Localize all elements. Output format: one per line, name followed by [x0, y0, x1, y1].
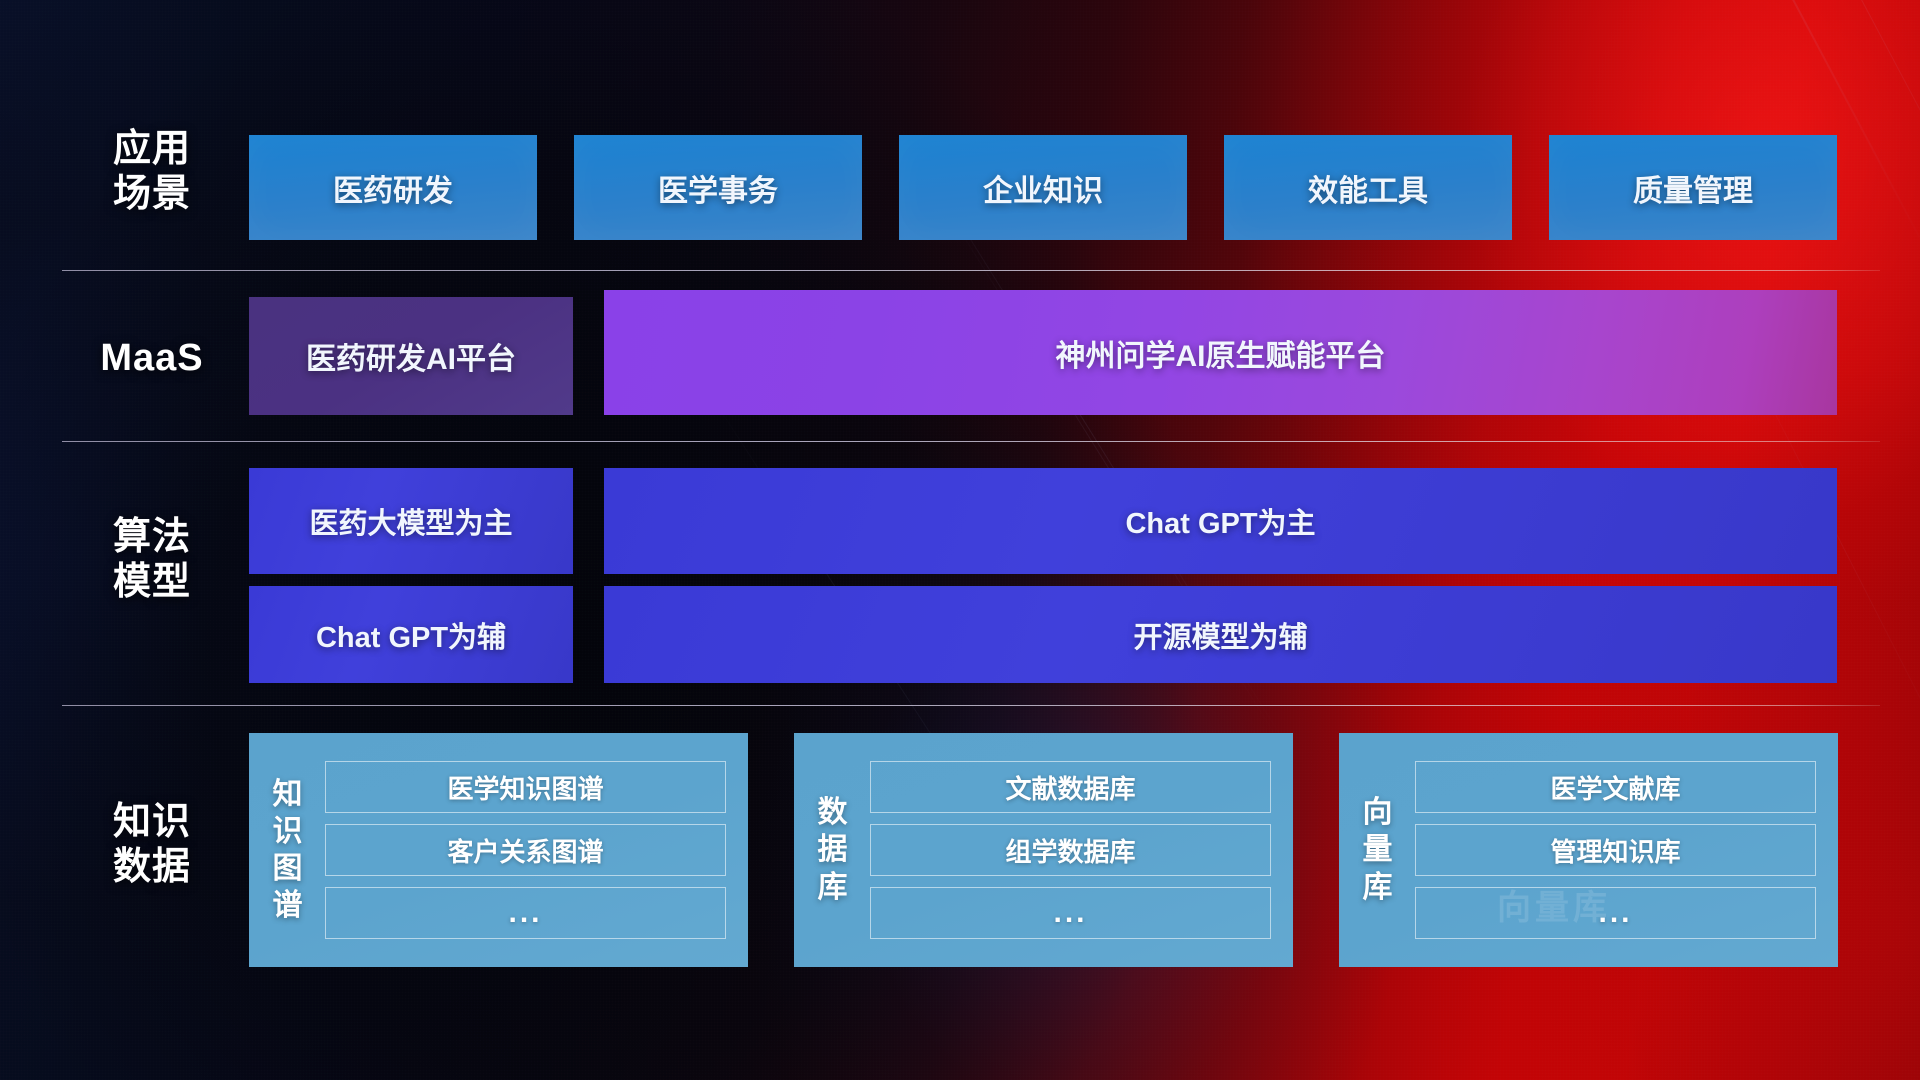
row-label-line-1: 知识	[62, 800, 242, 845]
knowledge-group-vertical-label: 向量库	[1357, 794, 1399, 906]
scenario-card-label: 质量管理	[1633, 166, 1753, 210]
scenario-card-3[interactable]: 企业知识	[899, 135, 1187, 240]
maas-platform-card-right[interactable]: 神州问学AI原生赋能平台	[604, 290, 1837, 415]
knowledge-item[interactable]: 客户关系图谱	[325, 824, 726, 876]
knowledge-group-vertical-label: 数据库	[812, 794, 854, 906]
algorithm-card-label: 医药大模型为主	[309, 500, 512, 542]
knowledge-item[interactable]: 组学数据库	[870, 824, 1271, 876]
knowledge-group-vertical-label: 知识图谱	[267, 776, 309, 925]
scenario-card-label: 医药研发	[333, 166, 453, 210]
scenario-card-label: 企业知识	[983, 166, 1103, 210]
maas-platform-label: 医药研发AI平台	[306, 334, 516, 378]
knowledge-group-vector-store[interactable]: 向量库 医学文献库 管理知识库 ...	[1339, 733, 1838, 967]
row-label-line-1: 算法	[62, 515, 242, 560]
algorithm-card-right-1[interactable]: Chat GPT为主	[604, 468, 1837, 574]
row-label-line-1: MaaS	[62, 336, 242, 381]
knowledge-item[interactable]: 文献数据库	[870, 761, 1271, 813]
row-label-maas: MaaS	[62, 336, 242, 381]
scenario-card-label: 医学事务	[658, 166, 778, 210]
row-label-knowledge-data: 知识 数据	[62, 800, 242, 890]
row-label-application-scenarios: 应用 场景	[62, 127, 242, 217]
divider-3	[62, 705, 1880, 706]
knowledge-item[interactable]: 医学知识图谱	[325, 761, 726, 813]
scenario-card-2[interactable]: 医学事务	[574, 135, 862, 240]
algorithm-card-right-2[interactable]: 开源模型为辅	[604, 586, 1837, 683]
knowledge-group-items: 医学知识图谱 客户关系图谱 ...	[325, 761, 726, 939]
knowledge-group-knowledge-graph[interactable]: 知识图谱 医学知识图谱 客户关系图谱 ...	[249, 733, 748, 967]
scenario-card-4[interactable]: 效能工具	[1224, 135, 1512, 240]
algorithm-card-label: Chat GPT为辅	[316, 614, 506, 656]
algorithm-card-label: 开源模型为辅	[1133, 614, 1307, 656]
knowledge-group-items: 医学文献库 管理知识库 ...	[1415, 761, 1816, 939]
knowledge-item[interactable]: 管理知识库	[1415, 824, 1816, 876]
divider-1	[62, 270, 1880, 271]
algorithm-card-left-2[interactable]: Chat GPT为辅	[249, 586, 573, 683]
maas-platform-card-left[interactable]: 医药研发AI平台	[249, 297, 573, 415]
row-label-algorithm-model: 算法 模型	[62, 515, 242, 605]
knowledge-item-more[interactable]: ...	[1415, 887, 1816, 939]
scenario-card-1[interactable]: 医药研发	[249, 135, 537, 240]
algorithm-card-left-1[interactable]: 医药大模型为主	[249, 468, 573, 574]
scenario-card-label: 效能工具	[1308, 166, 1428, 210]
row-label-line-2: 数据	[62, 845, 242, 890]
knowledge-group-items: 文献数据库 组学数据库 ...	[870, 761, 1271, 939]
knowledge-item-more[interactable]: ...	[325, 887, 726, 939]
knowledge-item-more[interactable]: ...	[870, 887, 1271, 939]
slide-canvas: 应用 场景 医药研发 医学事务 企业知识 效能工具 质量管理 MaaS 医药研发…	[0, 0, 1920, 1080]
algorithm-card-label: Chat GPT为主	[1125, 500, 1315, 542]
row-label-line-2: 模型	[62, 560, 242, 605]
knowledge-item[interactable]: 医学文献库	[1415, 761, 1816, 813]
scenario-card-5[interactable]: 质量管理	[1549, 135, 1837, 240]
maas-platform-label: 神州问学AI原生赋能平台	[1056, 331, 1386, 375]
row-label-line-1: 应用	[62, 127, 242, 172]
row-label-line-2: 场景	[62, 172, 242, 217]
divider-2	[62, 441, 1880, 442]
knowledge-group-database[interactable]: 数据库 文献数据库 组学数据库 ...	[794, 733, 1293, 967]
